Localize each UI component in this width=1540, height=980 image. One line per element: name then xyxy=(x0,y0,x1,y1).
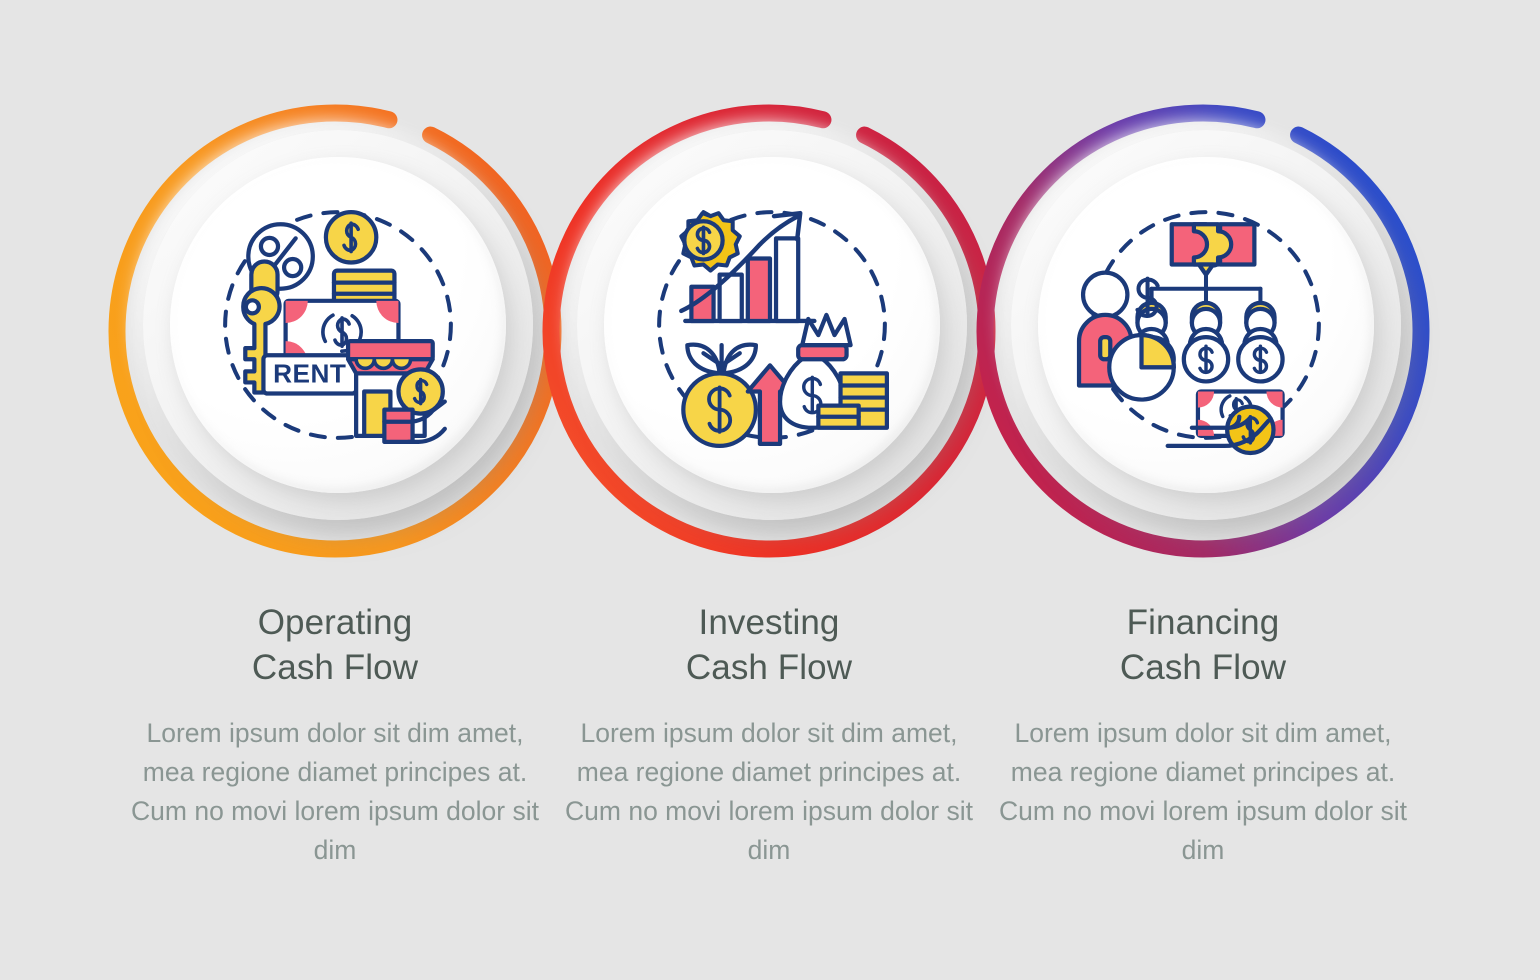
step-title-financing: Financing Cash Flow xyxy=(986,600,1420,690)
text-layer: Operating Cash Flow Lorem ipsum dolor si… xyxy=(0,600,1540,900)
step-body-operating: Lorem ipsum dolor sit dim amet, mea regi… xyxy=(118,714,552,870)
step-title-operating: Operating Cash Flow xyxy=(118,600,552,690)
step-title-investing: Investing Cash Flow xyxy=(552,600,986,690)
step-body-financing: Lorem ipsum dolor sit dim amet, mea regi… xyxy=(986,714,1420,870)
infographic-canvas: RENT xyxy=(0,0,1540,980)
text-column-operating: Operating Cash Flow Lorem ipsum dolor si… xyxy=(118,600,552,870)
step-circle-operating[interactable]: RENT xyxy=(100,96,570,566)
text-column-investing: Investing Cash Flow Lorem ipsum dolor si… xyxy=(552,600,986,870)
text-column-financing: Financing Cash Flow Lorem ipsum dolor si… xyxy=(986,600,1420,870)
investing-cash-flow-icon xyxy=(641,194,903,456)
step-body-investing: Lorem ipsum dolor sit dim amet, mea regi… xyxy=(552,714,986,870)
step-circle-investing[interactable] xyxy=(534,96,1004,566)
disc-financing xyxy=(1038,157,1374,493)
svg-text:RENT: RENT xyxy=(273,358,346,388)
operating-cash-flow-icon: RENT xyxy=(207,194,469,456)
disc-investing xyxy=(604,157,940,493)
step-circle-financing[interactable] xyxy=(968,96,1438,566)
financing-cash-flow-icon xyxy=(1075,194,1337,456)
disc-operating: RENT xyxy=(170,157,506,493)
